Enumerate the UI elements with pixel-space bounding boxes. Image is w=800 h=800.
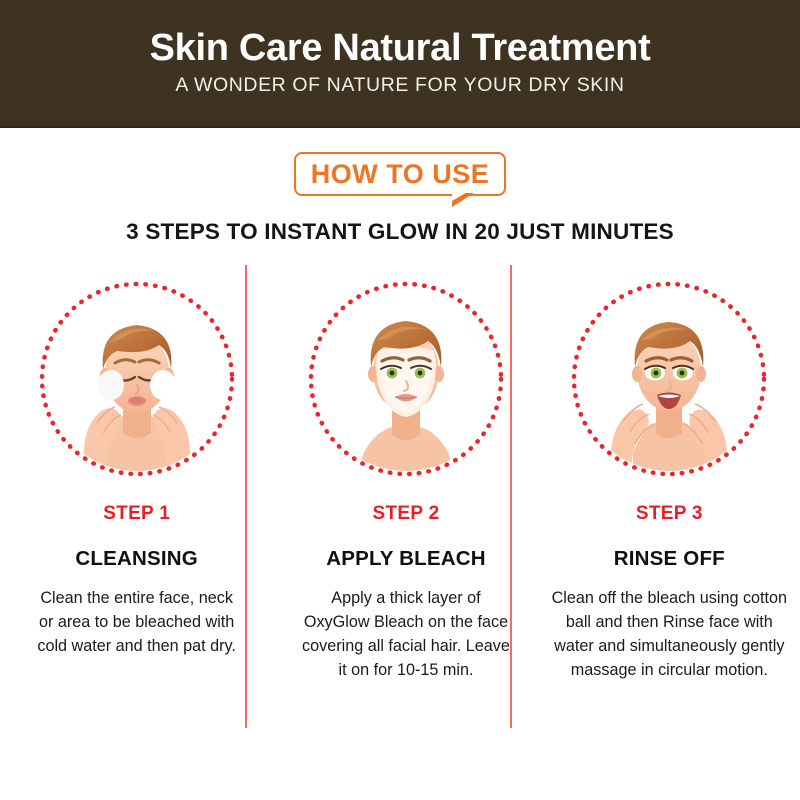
step-2-description: Apply a thick layer of OxyGlow Bleach on… (298, 587, 513, 683)
step-column-2: STEP 2 APPLY BLEACH Apply a thick layer … (273, 265, 538, 735)
step-column-1: STEP 1 CLEANSING Clean the entire face, … (0, 265, 273, 735)
step-2-title: APPLY BLEACH (326, 547, 486, 571)
step-3-description: Clean off the bleach using cotton ball a… (549, 587, 789, 683)
how-to-use-bubble: HOW TO USE (294, 152, 506, 196)
step-3-title: RINSE OFF (614, 547, 725, 571)
step-1-illustration (39, 281, 235, 477)
woman-cleansing-face-icon (39, 281, 235, 477)
step-2-number: STEP 2 (373, 503, 440, 525)
woman-bleach-mask-icon (308, 281, 504, 477)
page-title: Skin Care Natural Treatment (150, 29, 651, 69)
step-1-title: CLEANSING (75, 547, 198, 571)
bubble-tail-inner-icon (452, 191, 469, 201)
how-to-use-label: HOW TO USE (311, 161, 490, 188)
header-banner: Skin Care Natural Treatment A WONDER OF … (0, 0, 800, 128)
step-1-description: Clean the entire face, neck or area to b… (32, 587, 242, 659)
woman-massaging-face-icon (571, 281, 767, 477)
step-3-number: STEP 3 (636, 503, 703, 525)
page-subtitle: A WONDER OF NATURE FOR YOUR DRY SKIN (175, 74, 624, 97)
step-1-number: STEP 1 (103, 503, 170, 525)
step-column-3: STEP 3 RINSE OFF Clean off the bleach us… (539, 265, 800, 735)
step-2-illustration (308, 281, 504, 477)
steps-headline: 3 STEPS TO INSTANT GLOW IN 20 JUST MINUT… (0, 219, 800, 245)
steps-container: STEP 1 CLEANSING Clean the entire face, … (0, 265, 800, 735)
how-to-use-badge: HOW TO USE (294, 152, 506, 208)
step-3-illustration (571, 281, 767, 477)
